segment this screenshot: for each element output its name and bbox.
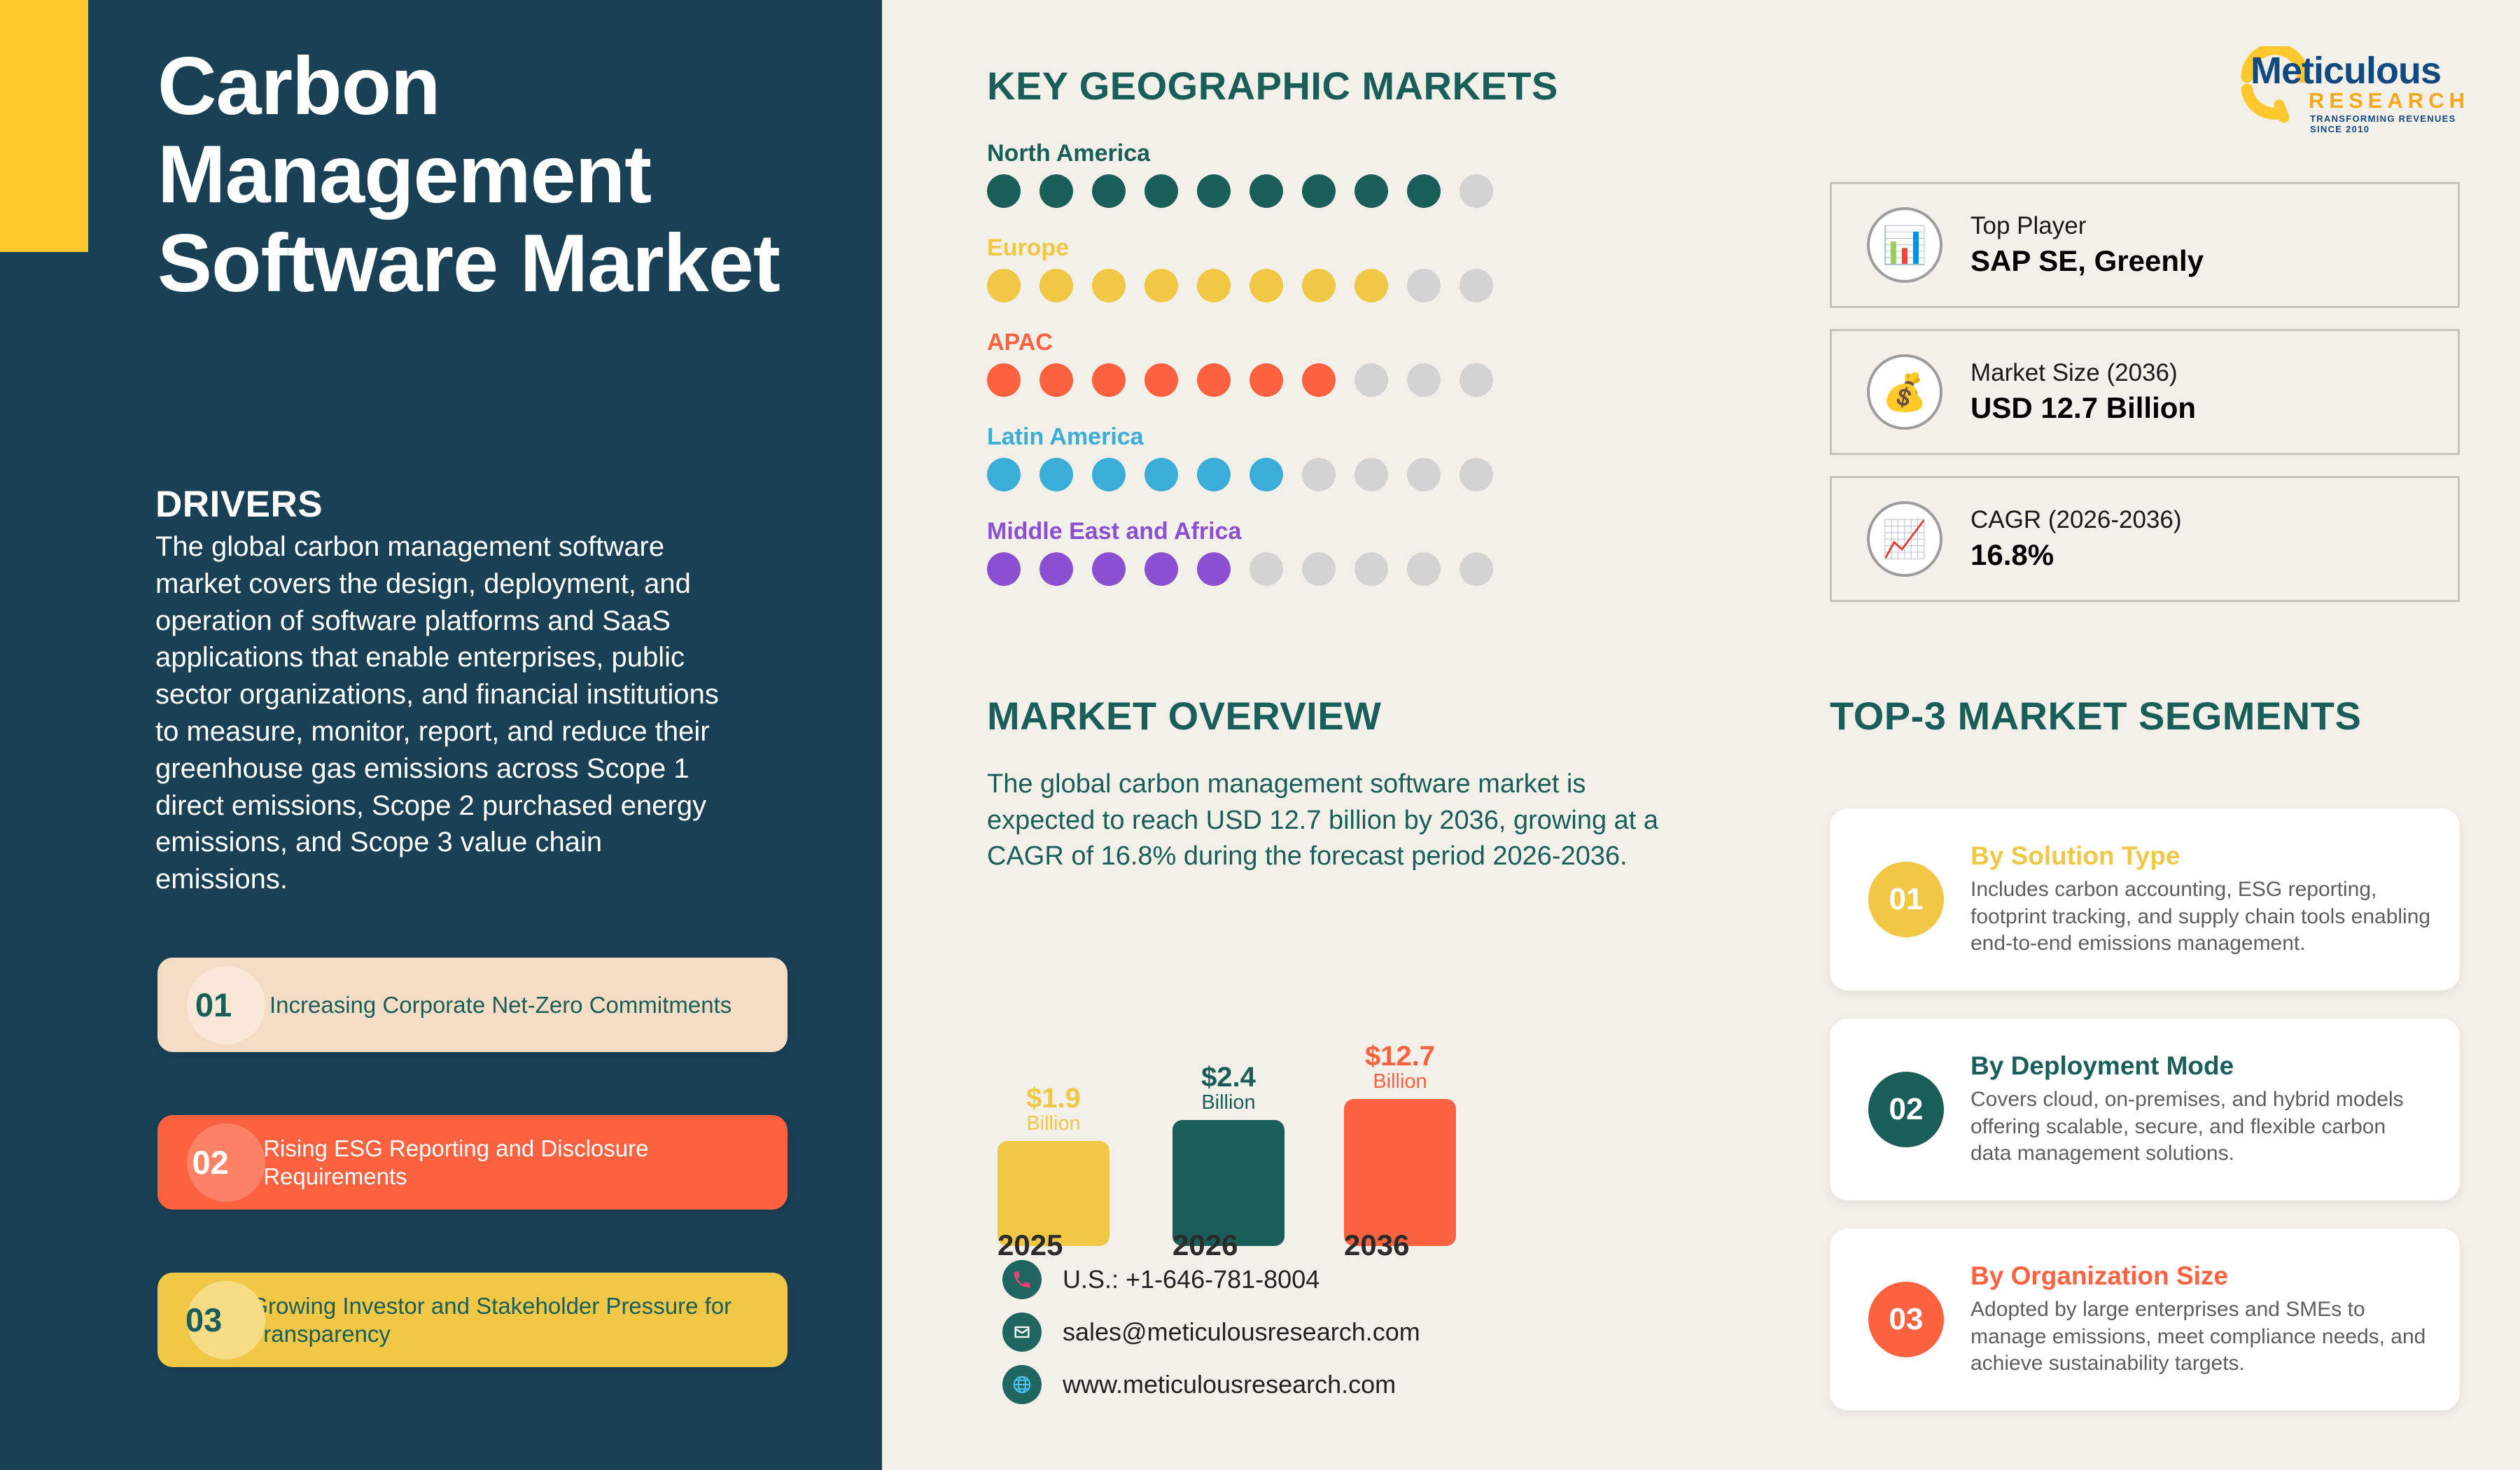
geo-dot-row [987, 458, 1493, 491]
geo-dot-filled [1039, 174, 1073, 208]
geo-dot-row [987, 552, 1493, 586]
bar-value-label: $2.4 [1201, 1063, 1256, 1091]
segment-number: 01 [1868, 862, 1944, 937]
geo-dot-filled [1144, 174, 1178, 208]
stat-card-market-size: 💰 Market Size (2036) USD 12.7 Billion [1830, 329, 2460, 455]
geo-dot-empty [1459, 269, 1493, 302]
geo-dot-filled [1354, 269, 1388, 302]
bar-unit-label: Billion [1373, 1070, 1427, 1093]
phone-icon [1002, 1260, 1042, 1299]
driver-number-wrap: 01 [157, 958, 269, 1052]
stat-card-body: Top Player SAP SE, Greenly [1970, 209, 2204, 281]
segment-description: Covers cloud, on-premises, and hybrid mo… [1970, 1086, 2432, 1167]
contact-email-text: sales@meticulousresearch.com [1063, 1317, 1420, 1347]
geo-dot-row [987, 269, 1493, 302]
segment-description: Includes carbon accounting, ESG reportin… [1970, 876, 2432, 957]
geo-dot-filled [987, 458, 1021, 491]
geo-dot-filled [987, 552, 1021, 586]
geo-dot-filled [1092, 269, 1126, 302]
geo-dot-filled [1407, 174, 1441, 208]
geo-dot-filled [987, 269, 1021, 302]
segment-card[interactable]: 03 By Organization Size Adopted by large… [1830, 1228, 2460, 1410]
geo-dot-filled [1302, 269, 1336, 302]
market-size-bar-chart: $1.9 Billion $2.4 Billion $12.7 Billion [990, 966, 1536, 1246]
bar-value-label: $12.7 [1365, 1042, 1435, 1070]
geo-region-row: Latin America [987, 423, 1493, 491]
stat-label: Top Player [1970, 209, 2204, 242]
segment-body: By Solution Type Includes carbon account… [1970, 841, 2460, 957]
geo-dot-empty [1249, 552, 1283, 586]
geo-region-row: APAC [987, 329, 1493, 397]
contact-row-email[interactable]: sales@meticulousresearch.com [1002, 1312, 1420, 1352]
driver-card[interactable]: 02 Rising ESG Reporting and Disclosure R… [157, 1115, 787, 1210]
geo-dot-empty [1302, 552, 1336, 586]
bar-column: $1.9 Billion [997, 966, 1109, 1246]
driver-number-wrap: 02 [157, 1115, 263, 1210]
bar-value-label: $1.9 [1026, 1084, 1081, 1112]
bar-unit-label: Billion [1201, 1091, 1255, 1114]
geo-dot-empty [1302, 458, 1336, 491]
geo-region-label: Latin America [987, 423, 1493, 451]
bar-rect [1344, 1099, 1456, 1246]
geo-dot-empty [1354, 458, 1388, 491]
geo-dot-filled [1092, 363, 1126, 397]
geo-dot-filled [1092, 458, 1126, 491]
contact-phone-text: U.S.: +1-646-781-8004 [1063, 1265, 1319, 1294]
geo-dot-empty [1407, 269, 1441, 302]
bar-column: $2.4 Billion [1172, 966, 1284, 1246]
driver-number: 02 [192, 1143, 228, 1182]
page-title: Carbon Management Software Market [157, 42, 857, 307]
accent-bar [0, 0, 88, 252]
market-overview-body: The global carbon management software ma… [987, 766, 1659, 875]
geo-dot-filled [1197, 458, 1231, 491]
geo-dot-filled [1302, 363, 1336, 397]
logo-research-word: RESEARCH [2309, 88, 2470, 113]
stat-value: USD 12.7 Billion [1970, 389, 2196, 428]
segment-heading: By Organization Size [1970, 1261, 2432, 1291]
geo-dot-empty [1407, 552, 1441, 586]
geo-region-row: North America [987, 140, 1493, 208]
bar-rect [1172, 1120, 1284, 1246]
globe-icon [1002, 1365, 1042, 1404]
driver-text: Increasing Corporate Net-Zero Commitment… [269, 991, 750, 1019]
geo-dot-empty [1459, 552, 1493, 586]
geo-dot-filled [1197, 363, 1231, 397]
segment-card[interactable]: 02 By Deployment Mode Covers cloud, on-p… [1830, 1018, 2460, 1200]
stat-label: CAGR (2026-2036) [1970, 503, 2182, 536]
bar-category-label: 2036 [1344, 1228, 1409, 1262]
money-bag-icon: 💰 [1867, 354, 1942, 430]
geo-dot-filled [1039, 552, 1073, 586]
bar-chart-icon: 📊 [1867, 207, 1942, 283]
geo-region-label: Europe [987, 234, 1493, 262]
geo-dot-empty [1354, 363, 1388, 397]
geo-dot-filled [1249, 458, 1283, 491]
geo-dot-filled [1039, 363, 1073, 397]
left-panel: Carbon Management Software Market DRIVER… [0, 0, 882, 1470]
market-overview-title: MARKET OVERVIEW [987, 693, 1381, 738]
geo-dot-filled [1092, 552, 1126, 586]
geographic-markets-title: KEY GEOGRAPHIC MARKETS [987, 63, 1558, 108]
geo-dot-filled [1197, 269, 1231, 302]
geo-dot-filled [1249, 269, 1283, 302]
geo-dot-empty [1407, 458, 1441, 491]
market-segments-title: TOP-3 MARKET SEGMENTS [1830, 693, 2361, 738]
driver-text: Rising ESG Reporting and Disclosure Requ… [263, 1135, 787, 1190]
geo-dot-filled [1039, 458, 1073, 491]
geo-dot-empty [1459, 458, 1493, 491]
geo-dot-filled [1249, 363, 1283, 397]
geo-dot-filled [1249, 174, 1283, 208]
geo-dot-filled [1354, 174, 1388, 208]
geo-dot-empty [1354, 552, 1388, 586]
segment-card[interactable]: 01 By Solution Type Includes carbon acco… [1830, 808, 2460, 990]
geo-dot-row [987, 363, 1493, 397]
contact-row-website[interactable]: www.meticulousresearch.com [1002, 1365, 1396, 1404]
geo-dot-empty [1459, 363, 1493, 397]
logo-tagline: TRANSFORMING REVENUES SINCE 2010 [2310, 113, 2478, 134]
geo-dot-filled [1144, 363, 1178, 397]
driver-number: 03 [185, 1301, 222, 1339]
driver-card[interactable]: 01 Increasing Corporate Net-Zero Commitm… [157, 958, 787, 1052]
bar-category-label: 2025 [997, 1228, 1063, 1262]
geo-dot-filled [987, 174, 1021, 208]
geo-dot-filled [1197, 552, 1231, 586]
stat-value: 16.8% [1970, 536, 2182, 575]
stat-label: Market Size (2036) [1970, 356, 2196, 389]
stat-card-body: CAGR (2026-2036) 16.8% [1970, 503, 2182, 575]
geo-region-label: APAC [987, 329, 1493, 356]
stat-card-body: Market Size (2036) USD 12.7 Billion [1970, 356, 2196, 428]
stat-value: SAP SE, Greenly [1970, 242, 2204, 281]
drivers-heading: DRIVERS [155, 483, 323, 526]
geo-dot-empty [1407, 363, 1441, 397]
geo-dot-filled [1144, 552, 1178, 586]
bar-unit-label: Billion [1026, 1112, 1080, 1135]
stat-card-cagr: 📈 CAGR (2026-2036) 16.8% [1830, 476, 2460, 602]
geo-region-row: Middle East and Africa [987, 518, 1493, 586]
segment-heading: By Solution Type [1970, 841, 2432, 871]
geo-dot-filled [1302, 174, 1336, 208]
geo-dot-filled [1144, 458, 1178, 491]
segment-body: By Organization Size Adopted by large en… [1970, 1261, 2460, 1377]
drivers-body-text: The global carbon management software ma… [155, 528, 729, 898]
trend-up-icon: 📈 [1867, 501, 1942, 577]
geo-dot-filled [1197, 174, 1231, 208]
driver-text: Growing Investor and Stakeholder Pressur… [250, 1292, 787, 1347]
bar-category-label: 2026 [1172, 1228, 1238, 1262]
geo-dot-empty [1459, 174, 1493, 208]
geo-region-label: Middle East and Africa [987, 518, 1493, 545]
stat-card-top-player: 📊 Top Player SAP SE, Greenly [1830, 182, 2460, 308]
geo-region-row: Europe [987, 234, 1493, 302]
geo-dot-filled [1039, 269, 1073, 302]
segment-number: 02 [1868, 1072, 1944, 1147]
segment-body: By Deployment Mode Covers cloud, on-prem… [1970, 1051, 2460, 1167]
driver-number: 01 [195, 986, 232, 1024]
geo-dot-row [987, 174, 1493, 208]
driver-card[interactable]: 03 Growing Investor and Stakeholder Pres… [157, 1273, 787, 1367]
contact-website-text: www.meticulousresearch.com [1063, 1370, 1396, 1399]
geo-dot-filled [987, 363, 1021, 397]
email-icon [1002, 1312, 1042, 1352]
meticulous-research-logo: Meticulous RESEARCH TRANSFORMING REVENUE… [2212, 35, 2478, 133]
geo-dot-filled [1092, 174, 1126, 208]
contact-row-phone[interactable]: U.S.: +1-646-781-8004 [1002, 1260, 1319, 1299]
driver-number-wrap: 03 [157, 1273, 250, 1367]
bar-column: $12.7 Billion [1344, 966, 1456, 1246]
segment-heading: By Deployment Mode [1970, 1051, 2432, 1081]
segment-description: Adopted by large enterprises and SMEs to… [1970, 1296, 2432, 1377]
logo-name: Meticulous [2250, 49, 2441, 92]
geo-dot-filled [1144, 269, 1178, 302]
geo-region-label: North America [987, 140, 1493, 167]
segment-number: 03 [1868, 1282, 1944, 1357]
